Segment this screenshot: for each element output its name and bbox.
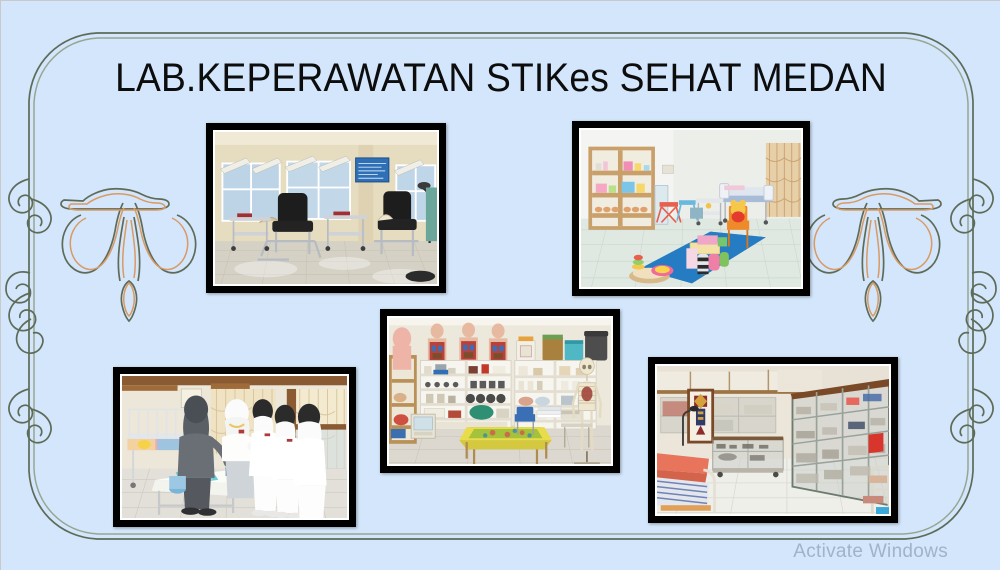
pediatric-lab-image — [581, 130, 801, 289]
maternity-lab-photo[interactable] — [206, 123, 446, 293]
equipment-storage-image — [657, 366, 889, 516]
anatomy-lab-image — [389, 318, 611, 466]
equipment-storage-photo[interactable] — [648, 357, 898, 523]
infant-care-practice-photo[interactable] — [113, 367, 356, 527]
activate-windows-watermark: Activate Windows — [793, 541, 948, 563]
page-title: LAB.KEPERAWATAN STIKes SEHAT MEDAN — [36, 56, 966, 101]
maternity-lab-image — [215, 132, 437, 286]
presentation-slide: LAB.KEPERAWATAN STIKes SEHAT MEDAN — [0, 0, 1000, 570]
infant-care-practice-image — [122, 376, 347, 520]
anatomy-lab-photo[interactable] — [380, 309, 620, 473]
pediatric-lab-photo[interactable] — [572, 121, 810, 296]
